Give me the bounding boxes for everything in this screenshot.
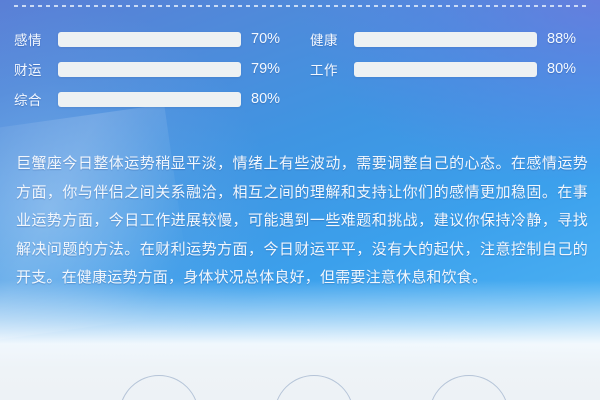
progress-track-work [354, 62, 537, 77]
stat-percent-work: 80% [547, 61, 576, 77]
stat-label-health: 健康 [310, 29, 354, 49]
stat-row-love: 感情 70% [0, 24, 290, 54]
stat-percent-health: 88% [547, 31, 576, 47]
decorative-circle-2 [274, 375, 354, 400]
horoscope-description: 巨蟹座今日整体运势稍显平淡，情绪上有些波动，需要调整自己的心态。在感情运势方面，… [16, 150, 588, 293]
fortune-stats-grid: 感情 70% 健康 88% 财运 79% 工作 80% [0, 24, 600, 114]
stat-row-overall: 综合 80% [0, 84, 290, 114]
progress-track-health [354, 32, 537, 47]
stat-percent-overall: 80% [251, 91, 280, 107]
progress-track-love [58, 32, 241, 47]
horoscope-card: 感情 70% 健康 88% 财运 79% 工作 80% [0, 0, 600, 400]
stat-percent-love: 70% [251, 31, 280, 47]
stat-row-health: 健康 88% [296, 24, 586, 54]
dashed-divider-top [14, 5, 586, 7]
stat-label-love: 感情 [14, 29, 58, 49]
stat-row-wealth: 财运 79% [0, 54, 290, 84]
stat-row-work: 工作 80% [296, 54, 586, 84]
progress-track-wealth [58, 62, 241, 77]
progress-track-overall [58, 92, 241, 107]
stat-label-wealth: 财运 [14, 59, 58, 79]
stat-label-work: 工作 [310, 59, 354, 79]
stat-label-overall: 综合 [14, 89, 58, 109]
decorative-circle-1 [119, 375, 199, 400]
decorative-circle-3 [429, 375, 509, 400]
stat-percent-wealth: 79% [251, 61, 280, 77]
